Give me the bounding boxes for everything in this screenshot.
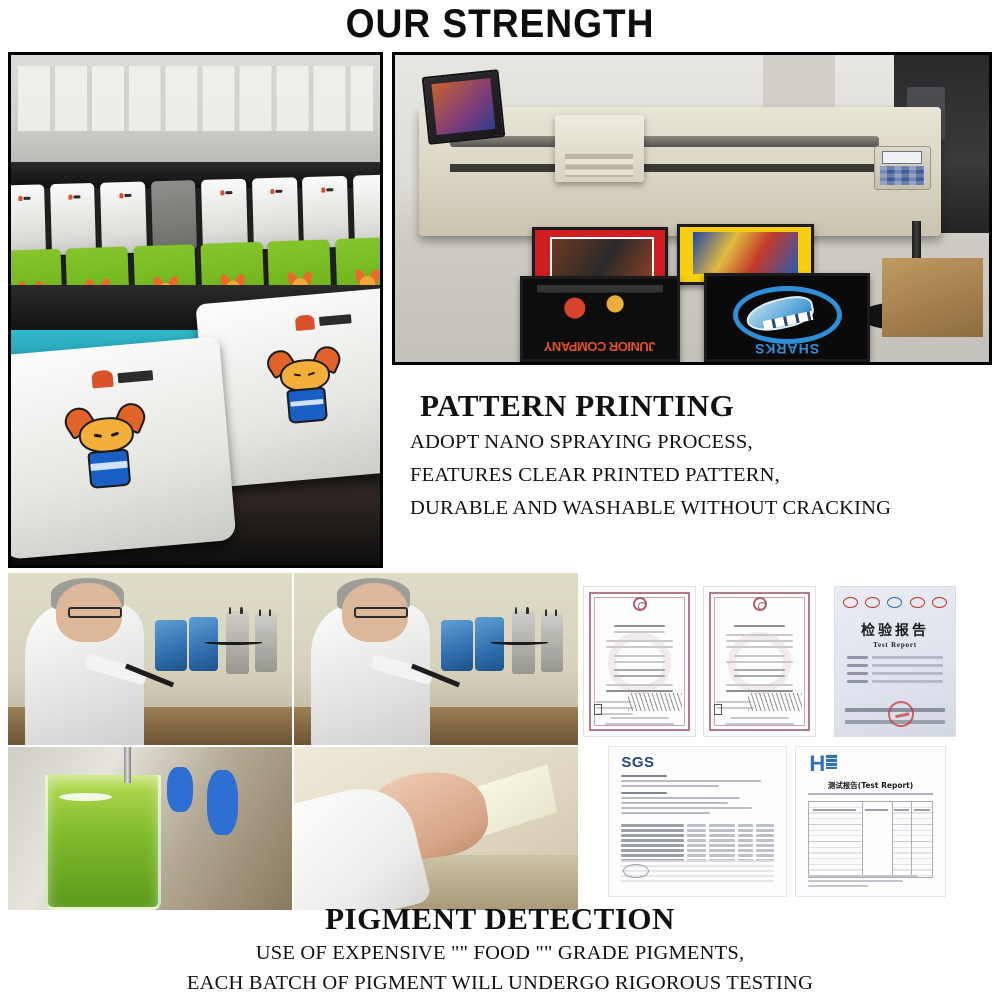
control-panel-screen: [882, 151, 922, 164]
bull-logo-icon: [295, 311, 352, 330]
official-red-stamp-icon: [885, 699, 916, 730]
shirt-tile: [151, 180, 198, 253]
photo-lab-chemist-left: [8, 573, 292, 745]
sharks-text: SHARKS: [716, 341, 857, 357]
photo-dtg-printer: JUNIOR COMPANY SHARKS: [392, 52, 992, 365]
bull-logo-icon: [92, 366, 154, 388]
conveyor-wall: [11, 55, 380, 167]
shirt-tile: [50, 183, 97, 256]
document-test-report: 检验报告 Test Report: [834, 586, 956, 737]
h-logo-block-icon: [826, 754, 837, 769]
shirt-tile: [352, 174, 383, 247]
lab-equipment-blue: [167, 767, 193, 813]
h-report-footer: [808, 875, 933, 890]
lab-equipment: [436, 611, 567, 707]
document-sgs-report: SGS: [608, 746, 787, 897]
certificate-mark-icon: [714, 704, 722, 715]
test-report-fields: [847, 656, 943, 688]
photo-green-pigment-beaker: [8, 747, 292, 910]
h-logo: H: [809, 754, 837, 774]
pigment-heading: PIGMENT DETECTION: [0, 900, 1000, 938]
cal-logo-icon: [932, 597, 947, 608]
pigment-line-1: USE OF EXPENSIVE "" FOOD "" GRADE PIGMEN…: [0, 938, 1000, 968]
h-logo-letter: H: [809, 754, 825, 774]
shark-artwork: [733, 286, 842, 344]
shirt-tile: [251, 177, 298, 250]
certificate-signature: [628, 693, 681, 711]
h-report-subheader: [808, 793, 933, 795]
pigment-detection-text-block: PIGMENT DETECTION USE OF EXPENSIVE "" FO…: [0, 900, 1000, 998]
h-report-title: 测试报告(Test Report): [796, 780, 945, 791]
printer-rail: [450, 136, 879, 148]
pattern-line-3: DURABLE AND WASHABLE WITHOUT CRACKING: [392, 492, 992, 525]
bull-logo-icon: [321, 187, 333, 193]
beaker-lip: [59, 793, 112, 801]
printer-rail-lower: [450, 164, 879, 172]
tablet-display: [421, 70, 505, 145]
certificate-signature: [748, 693, 801, 711]
printhead-carriage: [555, 115, 644, 182]
shirt-tile: [302, 176, 349, 249]
ccc-logo-icon: [843, 597, 858, 608]
photo-screen-printing-conveyor: [8, 52, 383, 568]
junior-company-text: JUNIOR COMPANY: [535, 340, 665, 353]
bull-logo-icon: [119, 193, 131, 199]
printer-control-panel: [874, 146, 931, 190]
shirt-tile: [8, 184, 46, 257]
bull-mascot-icon: [270, 344, 341, 430]
certificate-footer: [597, 717, 681, 729]
test-report-title-cn: 检验报告: [835, 620, 955, 640]
bull-mascot-icon: [69, 400, 146, 495]
certification-logos: [843, 597, 946, 608]
test-report-title: 检验报告 Test Report: [835, 620, 955, 649]
page-title: OUR STRENGTH: [35, 2, 965, 46]
document-h-test-report: H 测试报告(Test Report): [795, 746, 946, 897]
printed-shirt-sharks: SHARKS: [704, 273, 870, 362]
certificate-footer: [717, 717, 801, 729]
sgs-header-fields: [621, 775, 773, 817]
document-iso-certificate-english: [703, 586, 816, 737]
shirt-tile: [100, 181, 147, 254]
pigment-line-2: EACH BATCH OF PIGMENT WILL UNDERGO RIGOR…: [0, 968, 1000, 998]
lab-equipment: [150, 611, 281, 707]
certificate-seal-icon: [753, 597, 767, 611]
cardboard-boxes: [882, 258, 983, 338]
photo-hand-holding-paper: [294, 747, 578, 910]
sgs-results-table: [621, 824, 773, 864]
certificate-seal-icon: [633, 597, 647, 611]
pattern-printing-text-block: PATTERN PRINTING ADOPT NANO SPRAYING PRO…: [392, 386, 992, 525]
sgs-logo: SGS: [621, 754, 654, 771]
lab-equipment-blue: [207, 770, 238, 835]
test-report-title-en: Test Report: [835, 641, 955, 649]
cma-logo-icon: [910, 597, 925, 608]
bull-logo-icon: [271, 188, 283, 194]
stirring-rod: [124, 747, 130, 783]
printed-shirt-junior-company: JUNIOR COMPANY: [520, 276, 680, 362]
junior-artwork: [537, 285, 664, 327]
pattern-line-1: ADOPT NANO SPRAYING PROCESS,: [392, 426, 992, 459]
document-iso-certificate-chinese: [583, 586, 696, 737]
eyeglasses-icon: [68, 607, 122, 617]
photo-lab-chemist-right: [294, 573, 578, 745]
pattern-heading: PATTERN PRINTING: [392, 386, 992, 426]
h-report-table: [808, 801, 933, 878]
eyeglasses-icon: [354, 607, 408, 617]
control-panel-keypad: [880, 166, 924, 185]
bull-logo-icon: [18, 195, 30, 201]
cqc-logo-icon: [865, 597, 880, 608]
bull-logo-icon: [220, 190, 232, 196]
bull-logo-icon: [69, 194, 81, 200]
shirt-tile: [201, 179, 248, 252]
print-pallet: [8, 336, 237, 559]
pattern-line-2: FEATURES CLEAR PRINTED PATTERN,: [392, 459, 992, 492]
certificate-mark-icon: [594, 704, 602, 715]
cnas-logo-icon: [887, 597, 902, 608]
beaker: [45, 775, 161, 910]
